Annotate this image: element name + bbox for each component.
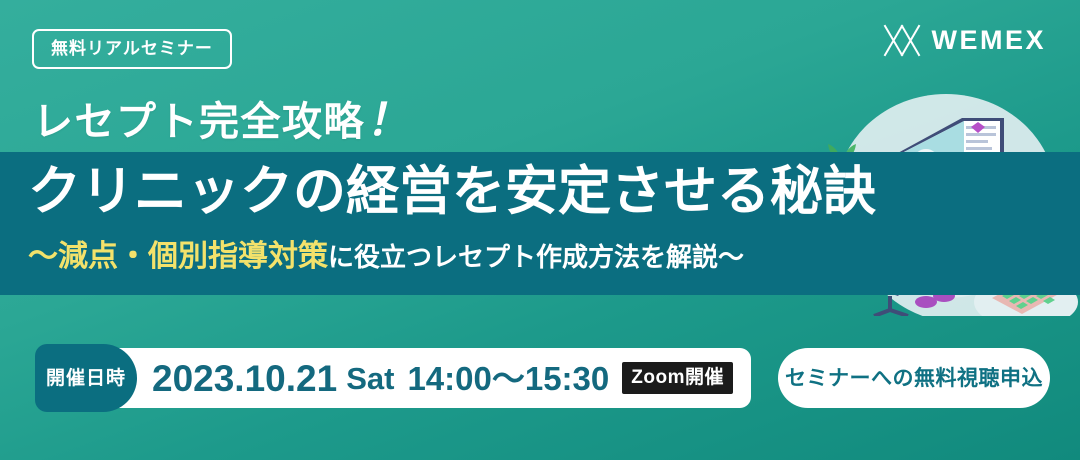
apply-button-label: セミナーへの無料視聴申込: [785, 368, 1043, 389]
page-title: クリニックの経営を安定させる秘訣: [28, 163, 876, 220]
apply-button[interactable]: セミナーへの無料視聴申込: [778, 348, 1050, 408]
event-label-pill: 開催日時: [35, 344, 137, 412]
event-date: 2023.10.21: [152, 360, 337, 397]
subtitle-prefix: 〜: [28, 240, 58, 273]
wemex-logo-text: WEMEX: [931, 27, 1046, 54]
free-seminar-badge: 無料リアルセミナー: [32, 29, 232, 69]
headline: レセプト完全攻略！: [33, 97, 415, 145]
event-format-tag: Zoom開催: [622, 362, 733, 394]
headline-exclamation: ！: [364, 97, 420, 145]
seminar-banner: WEMEX 無料リアルセミナー レセプト完全攻略！ クリニックの経営を安定させる…: [0, 0, 1080, 460]
free-seminar-badge-label: 無料リアルセミナー: [51, 39, 213, 58]
page-subtitle: 〜減点・個別指導対策に役立つレセプト作成方法を解説〜: [28, 240, 744, 273]
wemex-logo: WEMEX: [883, 24, 1046, 57]
headline-text: レセプト完全攻略: [33, 100, 365, 144]
event-weekday: Sat: [346, 363, 394, 394]
wemex-x-mark: [883, 24, 921, 57]
event-time: 14:00〜15:30: [407, 362, 609, 395]
event-label: 開催日時: [46, 369, 126, 388]
subtitle-rest: に役立つレセプト作成方法を解説〜: [328, 242, 744, 272]
subtitle-highlight: 減点・個別指導対策: [58, 240, 328, 273]
event-details: 2023.10.21 Sat 14:00〜15:30 Zoom開催: [152, 348, 733, 408]
